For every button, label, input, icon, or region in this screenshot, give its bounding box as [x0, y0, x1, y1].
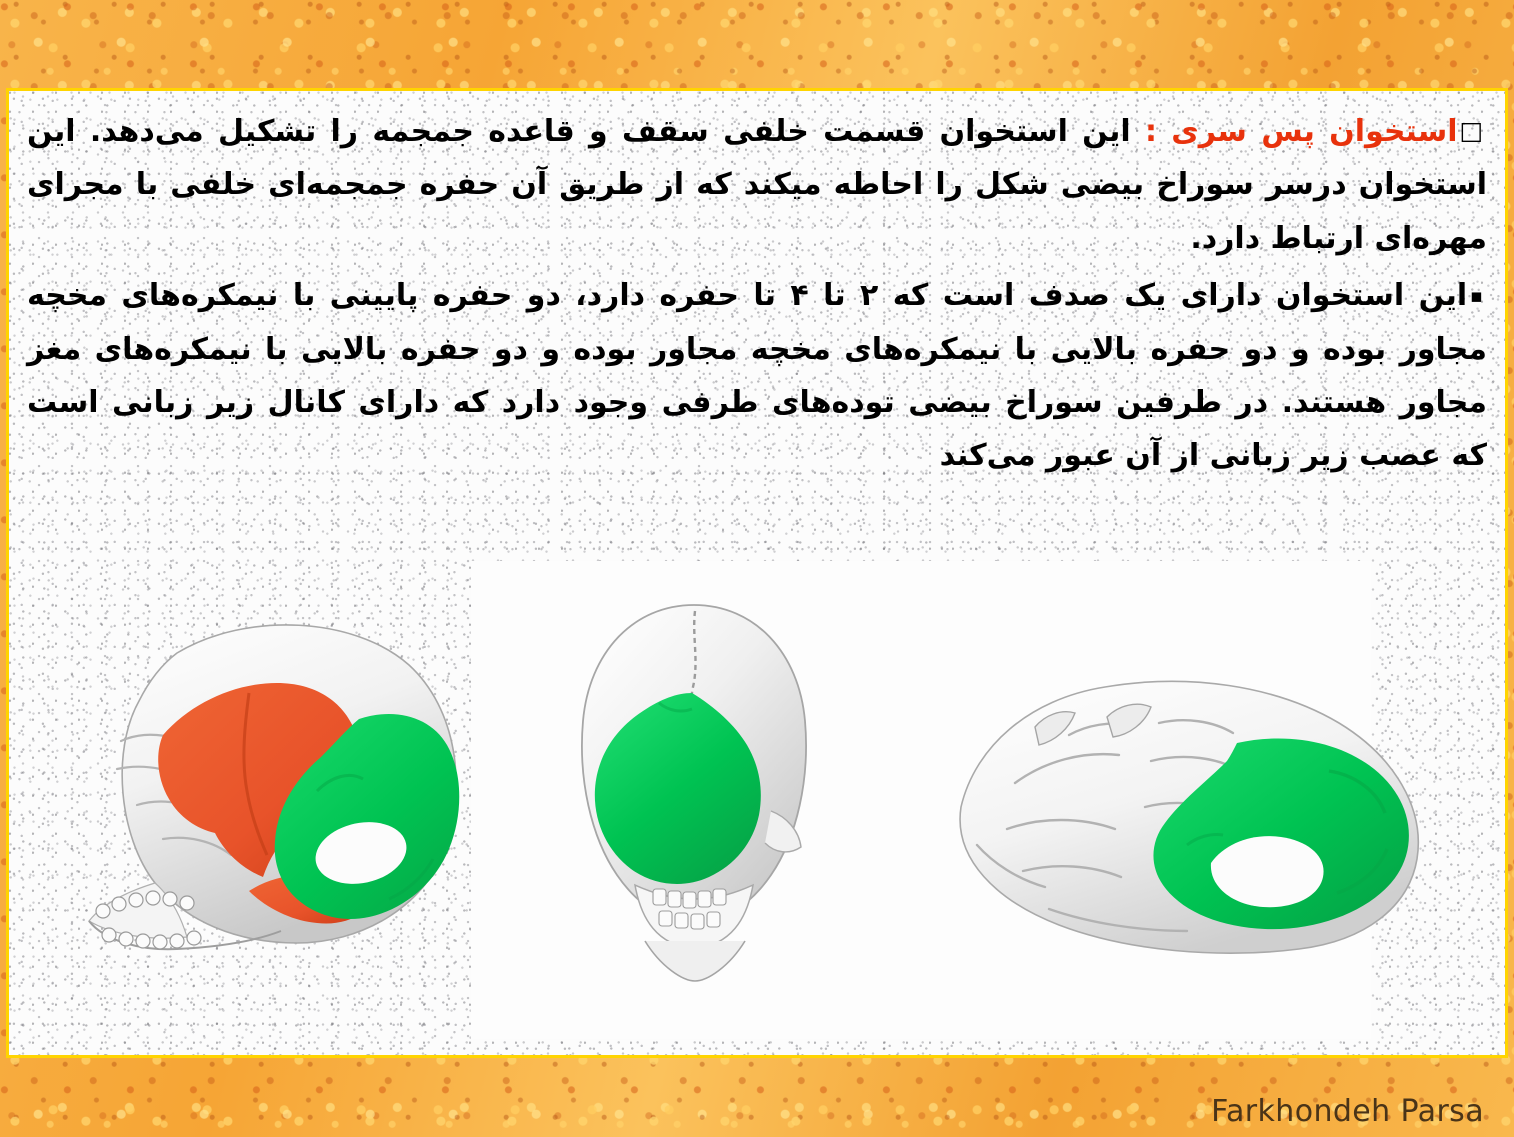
skull-posterior-svg — [549, 589, 839, 999]
figure-skull-posterior — [549, 589, 839, 999]
paragraph-heading: استخوان پس سری : — [1145, 114, 1458, 149]
paragraph-occipital-definition: □استخوان پس سری : این استخوان قسمت خلفی … — [27, 105, 1487, 265]
slide-text-block: □استخوان پس سری : این استخوان قسمت خلفی … — [27, 105, 1487, 483]
paragraph-body-2: این استخوان دارای یک صدف است که ۲ تا ۴ ت… — [27, 278, 1487, 473]
mandible-ramus — [645, 941, 745, 981]
slide-content-frame: □استخوان پس سری : این استخوان قسمت خلفی … — [6, 88, 1508, 1058]
skull-lateral-svg — [59, 591, 479, 981]
footer-author-name: Farkhondeh Parsa — [1211, 1094, 1484, 1129]
skull-base-svg — [919, 631, 1449, 991]
filled-square-bullet-icon: ▪ — [1470, 285, 1487, 307]
figure-skull-lateral-left — [59, 591, 479, 981]
paragraph-occipital-details: ▪این استخوان دارای یک صدف است که ۲ تا ۴ … — [27, 269, 1487, 483]
figure-skull-base — [919, 631, 1449, 991]
slide-canvas: □استخوان پس سری : این استخوان قسمت خلفی … — [0, 0, 1514, 1137]
square-bullet-icon: □ — [1460, 116, 1487, 145]
